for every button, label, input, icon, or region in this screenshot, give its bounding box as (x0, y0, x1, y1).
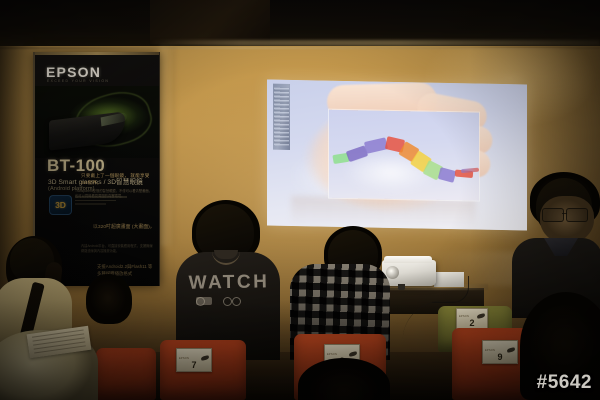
banner-product-art (35, 86, 159, 158)
kite-tail (461, 168, 479, 174)
photo-overlay (329, 110, 479, 201)
tag-swoosh-icon (349, 351, 358, 357)
ceiling-panel (150, 0, 270, 44)
screenshot-root: EPSON EXCEED YOUR VISION BT-100 3D Smart… (0, 0, 600, 400)
banner-headline-1: 只要戴上了一個眼鏡， 就能享受3D視界。 (81, 172, 155, 186)
seat-number-tag: EPSON 2 (456, 308, 488, 330)
3d-badge-icon: 3D (49, 195, 72, 215)
tag-brand: EPSON (459, 315, 469, 318)
seat-number: 7 (191, 361, 196, 370)
banner-headline-2: 以320吋超廣畫面 (大畫面)， (93, 224, 155, 232)
attendee-background-head (86, 274, 132, 324)
hand-shadow (291, 196, 476, 230)
tag-swoosh-icon (201, 355, 210, 361)
epson-tagline: EXCEED YOUR VISION (47, 79, 109, 83)
watermark: #5642 (537, 372, 592, 394)
chair-7[interactable]: EPSON 7 (160, 340, 246, 400)
building-silhouette (273, 84, 290, 150)
seat-number-tag: EPSON 7 (176, 348, 212, 372)
kite-segment (438, 167, 456, 183)
tag-brand: EPSON (485, 349, 495, 352)
wall-column (160, 46, 176, 246)
shirt-logo (196, 294, 242, 306)
projector-cable (432, 276, 469, 303)
tag-swoosh-icon (477, 313, 486, 319)
seat-number-tag: EPSON 9 (482, 340, 518, 364)
projection-screen (267, 80, 527, 231)
chair-backrest (96, 348, 156, 400)
tag-swoosh-icon (507, 347, 516, 353)
tag-brand: EPSON (179, 357, 189, 360)
chair-left[interactable] (96, 348, 156, 400)
epson-logo: EPSON (46, 64, 101, 80)
seat-number: 2 (469, 319, 474, 328)
projector-foot (398, 284, 405, 290)
projector-top-panel (384, 256, 432, 263)
tag-brand: EPSON (327, 353, 337, 356)
seat-number: 9 (497, 353, 502, 362)
banner-top-edge (35, 52, 159, 55)
rainbow-kite (329, 110, 479, 201)
banner-body-1: Transparent型態的智慧眼鏡，不僅可以看清楚畫面，也可以同時看見周圍的真… (75, 189, 155, 200)
eyeglasses-icon (540, 208, 596, 221)
shirt-print-text: WATCH (186, 271, 272, 294)
banner-body-2: 內建Android平台，可直接安裝應用程式，支援無線網路連線與內容播放功能。 (81, 244, 155, 254)
